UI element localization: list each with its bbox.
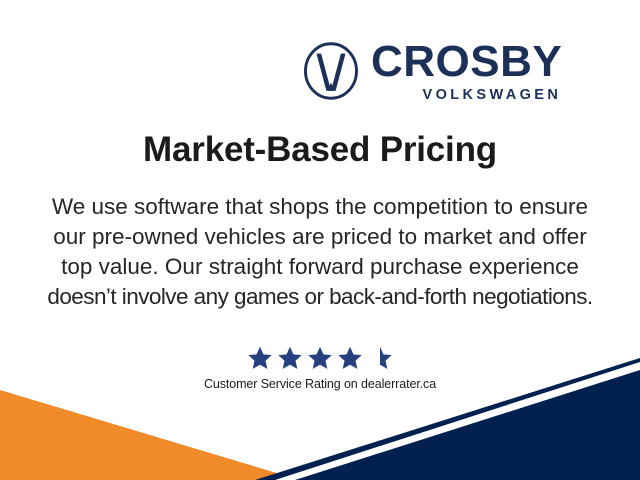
half-star-icon — [367, 345, 393, 371]
body-line-2: our pre-owned vehicles are priced to mar… — [40, 222, 600, 252]
body-copy: We use software that shops the competiti… — [40, 192, 600, 312]
star-icon — [277, 345, 303, 371]
star-icon — [247, 345, 273, 371]
body-line-1: We use software that shops the competiti… — [40, 192, 600, 222]
star-icon — [337, 345, 363, 371]
star-icon — [307, 345, 333, 371]
rating-caption: Customer Service Rating on dealerrater.c… — [0, 377, 640, 391]
star-rating — [0, 344, 640, 372]
brand-sub: VOLKSWAGEN — [423, 88, 563, 103]
body-line-3: top value. Our straight forward purchase… — [40, 252, 600, 282]
vw-roundel-icon — [302, 42, 360, 100]
brand-logo: CROSBY VOLKSWAGEN — [302, 38, 580, 104]
page-title: Market-Based Pricing — [0, 130, 640, 170]
body-line-4: doesn’t involve any games or back-and-fo… — [40, 282, 600, 312]
promo-card: CROSBY VOLKSWAGEN Market-Based Pricing W… — [0, 0, 640, 480]
orange-corner-wedge — [0, 380, 300, 480]
brand-wordmarks: CROSBY VOLKSWAGEN — [371, 40, 562, 103]
rating-block: Customer Service Rating on dealerrater.c… — [0, 344, 640, 391]
brand-name: CROSBY — [371, 40, 562, 84]
